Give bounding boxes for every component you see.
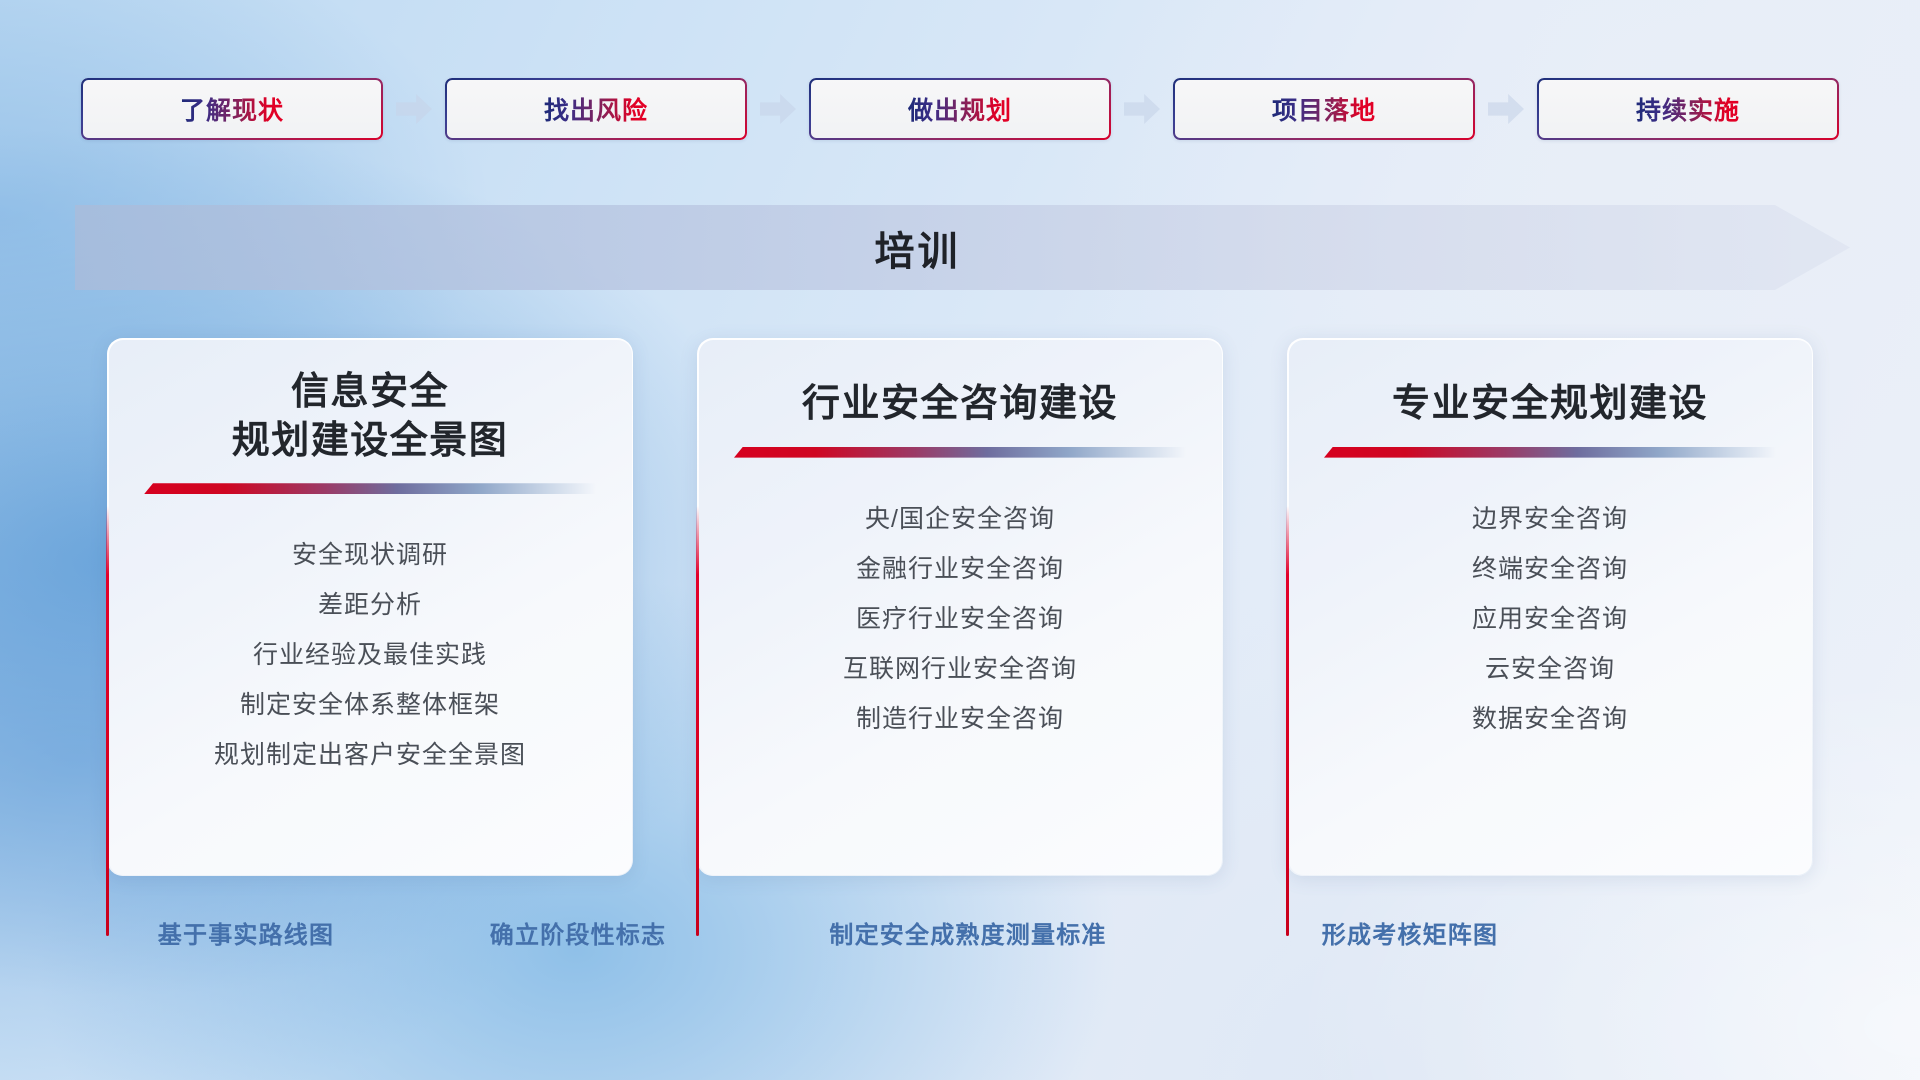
list-item: 医疗行业安全咨询 <box>856 594 1064 644</box>
training-banner: 培训 <box>75 205 1850 290</box>
process-step-1[interactable]: 了解现状 <box>81 78 383 140</box>
card-item-list: 安全现状调研 差距分析 行业经验及最佳实践 制定安全体系整体框架 规划制定出客户… <box>107 530 633 780</box>
list-item: 制造行业安全咨询 <box>856 694 1064 744</box>
card-left-accent-bar <box>696 506 699 936</box>
process-step-4[interactable]: 项目落地 <box>1173 78 1475 140</box>
card-title-line-1: 专业安全规划建设 <box>1392 380 1708 429</box>
list-item: 应用安全咨询 <box>1472 594 1628 644</box>
process-step-3[interactable]: 做出规划 <box>809 78 1111 140</box>
list-item: 差距分析 <box>318 580 422 630</box>
footer-label-1: 基于事实路线图 <box>158 915 334 950</box>
list-item: 制定安全体系整体框架 <box>240 680 500 730</box>
list-item: 规划制定出客户安全全景图 <box>214 730 526 780</box>
footer-label-2: 确立阶段性标志 <box>490 915 666 950</box>
card-left-accent-bar <box>1286 506 1289 936</box>
process-step-3-label: 做出规划 <box>908 91 1012 127</box>
list-item: 金融行业安全咨询 <box>856 544 1064 594</box>
arrow-right-icon-2 <box>760 94 796 124</box>
arrow-right-icon-3 <box>1124 94 1160 124</box>
arrow-right-icon-4 <box>1488 94 1524 124</box>
card-title-divider <box>144 483 596 494</box>
card-security-blueprint[interactable]: 信息安全 规划建设全景图 安全现状调研 差距分析 行业经验及最佳实践 制定安全体… <box>107 338 633 876</box>
card-industry-consulting[interactable]: 行业安全咨询建设 央/国企安全咨询 金融行业安全咨询 医疗行业安全咨询 互联网行… <box>697 338 1223 876</box>
list-item: 云安全咨询 <box>1485 644 1615 694</box>
process-step-row: 了解现状 找出风险 做出规划 项目落地 持续实施 <box>0 78 1920 140</box>
card-title-line-1: 信息安全 <box>232 368 509 417</box>
list-item: 数据安全咨询 <box>1472 694 1628 744</box>
card-item-list: 央/国企安全咨询 金融行业安全咨询 医疗行业安全咨询 互联网行业安全咨询 制造行… <box>697 494 1223 744</box>
card-left-accent-bar <box>106 506 109 936</box>
card-title-line-2: 规划建设全景图 <box>232 417 509 466</box>
card-row: 信息安全 规划建设全景图 安全现状调研 差距分析 行业经验及最佳实践 制定安全体… <box>0 338 1920 876</box>
process-step-5[interactable]: 持续实施 <box>1537 78 1839 140</box>
card-title: 专业安全规划建设 <box>1368 380 1732 429</box>
list-item: 安全现状调研 <box>292 530 448 580</box>
process-step-2[interactable]: 找出风险 <box>445 78 747 140</box>
list-item: 边界安全咨询 <box>1472 494 1628 544</box>
card-item-list: 边界安全咨询 终端安全咨询 应用安全咨询 云安全咨询 数据安全咨询 <box>1287 494 1813 744</box>
list-item: 终端安全咨询 <box>1472 544 1628 594</box>
process-step-5-label: 持续实施 <box>1636 91 1740 127</box>
card-title-divider <box>1324 447 1776 458</box>
card-professional-planning[interactable]: 专业安全规划建设 边界安全咨询 终端安全咨询 应用安全咨询 云安全咨询 数据安全… <box>1287 338 1813 876</box>
footer-label-row: 基于事实路线图 确立阶段性标志 制定安全成熟度测量标准 形成考核矩阵图 <box>0 915 1920 955</box>
process-step-1-label: 了解现状 <box>180 91 284 127</box>
card-title-line-1: 行业安全咨询建设 <box>802 380 1118 429</box>
process-step-4-label: 项目落地 <box>1272 91 1376 127</box>
list-item: 互联网行业安全咨询 <box>843 644 1077 694</box>
footer-label-3: 制定安全成熟度测量标准 <box>829 915 1106 950</box>
process-step-2-label: 找出风险 <box>544 91 648 127</box>
footer-label-4: 形成考核矩阵图 <box>1322 915 1498 950</box>
card-title: 信息安全 规划建设全景图 <box>208 368 533 465</box>
card-title-divider <box>734 447 1186 458</box>
training-banner-title: 培训 <box>875 219 961 277</box>
list-item: 央/国企安全咨询 <box>865 494 1055 544</box>
list-item: 行业经验及最佳实践 <box>253 630 487 680</box>
arrow-right-icon-1 <box>396 94 432 124</box>
card-title: 行业安全咨询建设 <box>778 380 1142 429</box>
